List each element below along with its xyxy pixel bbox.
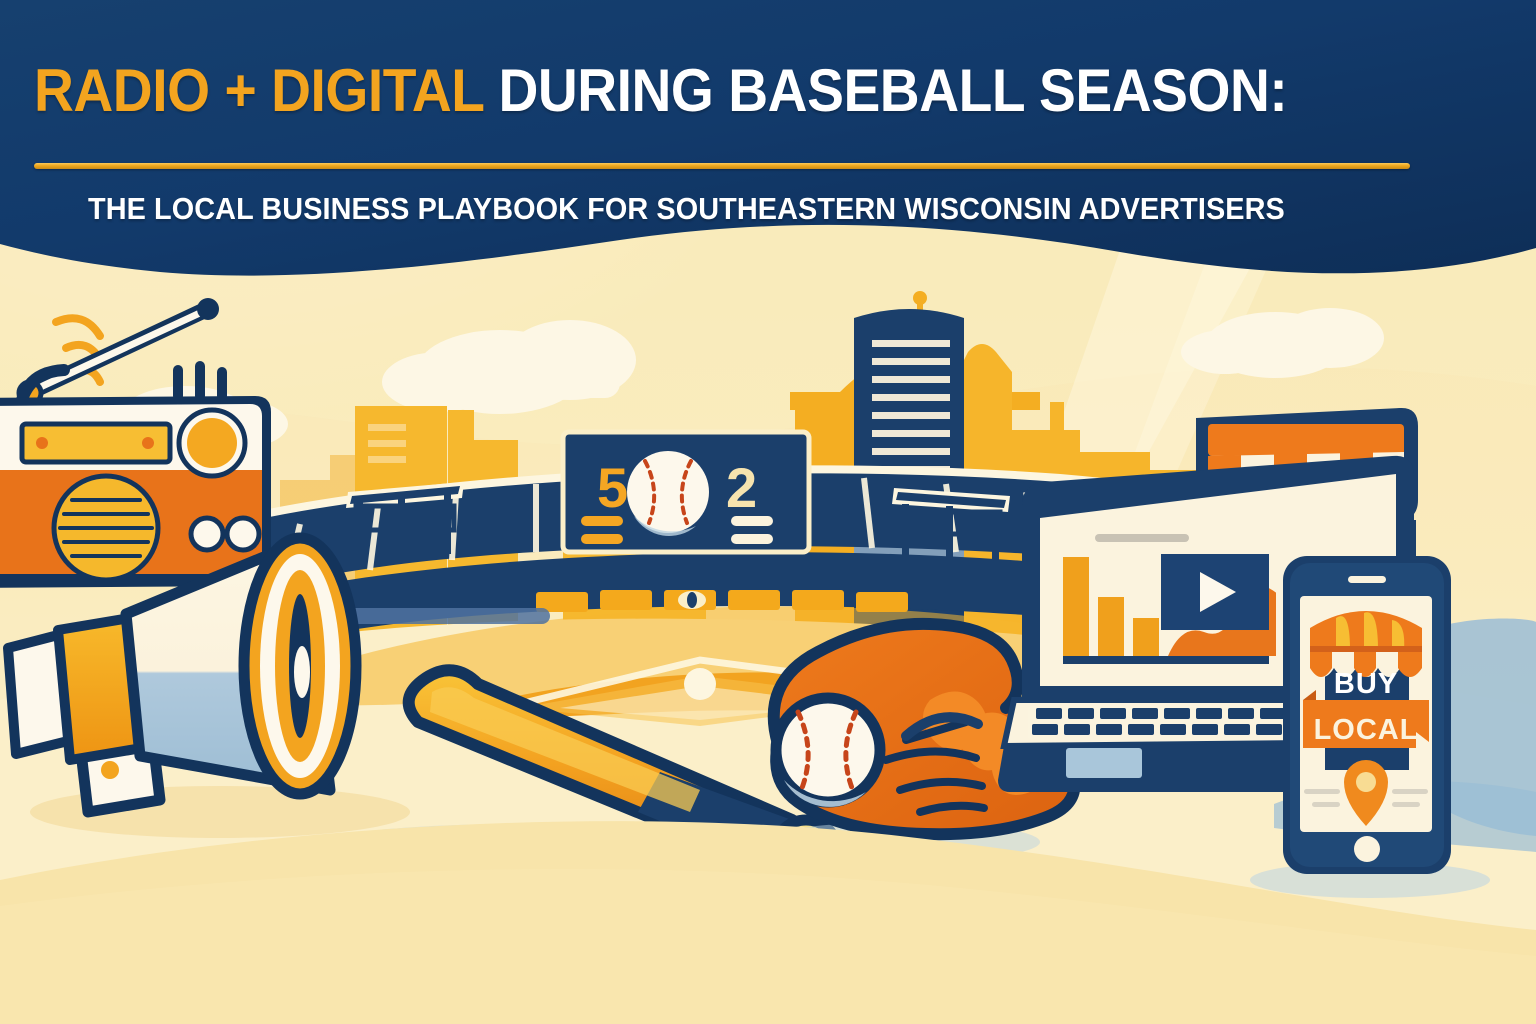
poster-canvas: 5 2 (0, 0, 1536, 1024)
scoreboard-illustration: 5 2 (563, 432, 809, 552)
baseball-icon (776, 698, 880, 807)
title-divider (34, 163, 1410, 169)
phone-buy-text: BUY (1334, 668, 1398, 700)
phone-local-text: LOCAL (1314, 714, 1419, 746)
scoreboard-home-score: 5 (597, 456, 628, 519)
header-text-layer: RADIO + DIGITAL DURING BASEBALL SEASON: … (0, 0, 1536, 270)
page-title: RADIO + DIGITAL DURING BASEBALL SEASON: (34, 60, 1322, 122)
scoreboard-away-score: 2 (726, 456, 757, 519)
phone-screen: BUY LOCAL (1303, 611, 1429, 826)
page-subtitle: THE LOCAL BUSINESS PLAYBOOK FOR SOUTHEAS… (88, 190, 1353, 228)
title-rest-text: DURING BASEBALL SEASON: (484, 57, 1288, 124)
video-player-widget (1161, 554, 1269, 630)
title-accent-text: RADIO + DIGITAL (34, 57, 484, 124)
